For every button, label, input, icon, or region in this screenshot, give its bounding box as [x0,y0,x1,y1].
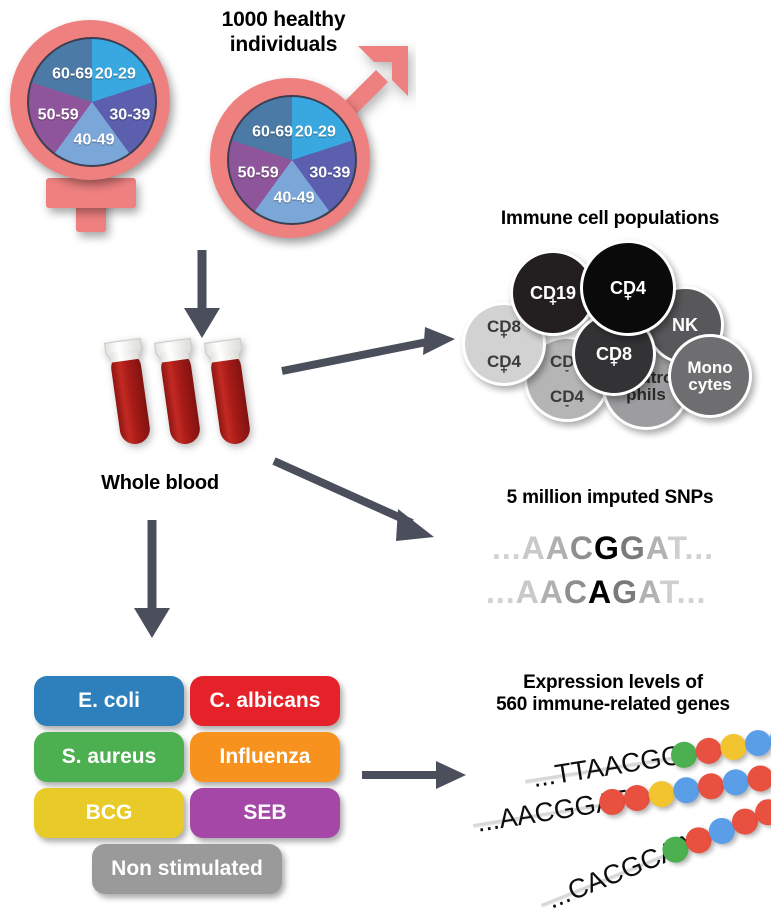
stimulus-label: C. albicans [210,689,321,713]
arrow-stimuli-to-expression [360,755,470,795]
stimulus-pill[interactable]: C. albicans [190,676,340,726]
pie-slice-label-40-49: 40-49 [274,189,315,207]
male-gender-icon: 20-2930-3940-4950-5960-69 [206,48,406,248]
stimulus-label: BCG [86,801,133,825]
stimulus-pill[interactable]: E. coli [34,676,184,726]
immune-cell-label: CD8+ [596,345,632,363]
pie-slice-label-30-39: 30-39 [309,165,350,183]
stimulus-pill[interactable]: BCG [34,788,184,838]
stimulus-pill[interactable]: Influenza [190,732,340,782]
arrow-blood-to-stimuli [130,520,174,640]
snp-sequence-block: ...AACGGAT......AACAGAT... [486,530,756,616]
pie-slice-label-50-59: 50-59 [38,107,79,125]
immune-cell-bubble: CD4+ [580,240,676,336]
section-title-expression: Expression levels of560 immune-related g… [455,672,771,717]
stimulus-label: SEB [243,801,286,825]
pie-slice-label-60-69: 60-69 [52,66,93,84]
arrow-blood-to-snps [272,455,452,550]
stimulus-pill[interactable]: Non stimulated [92,844,282,894]
expression-bead [719,732,749,762]
snp-sequence-row: ...AACAGAT... [486,574,706,611]
expression-bead [746,764,771,794]
expression-bead [671,775,701,805]
expression-bead [721,768,751,798]
pie-slice-label-60-69: 60-69 [252,124,293,142]
immune-cell-label: NK [672,316,698,334]
label-whole-blood: Whole blood [60,472,260,496]
pie-slice-label-20-29: 20-29 [295,124,336,142]
immune-cell-bubble-cluster: CD19+CD4+CD8+NKCD8+CD4+CD8-CD4-Neutrophi… [462,240,762,425]
expression-strand-block: ...TTAACGG...AACGGAT...CACGCAA [455,735,771,915]
pie-slice-label-40-49: 40-49 [74,131,115,149]
blood-collection-tubes-icon [96,335,256,465]
immune-cell-label: CD4+ [610,279,646,297]
expression-bead [647,779,677,809]
immune-cell-label: CD19+ [530,284,576,302]
section-title-snps: 5 million imputed SNPs [455,487,765,509]
section-title-immune-cells: Immune cell populations [450,208,770,230]
expression-bead [743,728,771,758]
immune-cell-bubble: Monocytes [668,334,752,418]
arrow-blood-to-immune-cells [280,325,465,385]
immune-cell-label: Monocytes [687,359,732,394]
expression-bead [694,736,724,766]
stimulus-label: Influenza [219,745,310,769]
stimulus-label: E. coli [78,689,140,713]
snp-sequence-row: ...AACGGAT... [492,530,714,567]
expression-bead [696,771,726,801]
stimulus-pill[interactable]: SEB [190,788,340,838]
pie-slice-label-20-29: 20-29 [95,66,136,84]
stimuli-grid: E. coliC. albicansS. aureusInfluenzaBCGS… [34,676,344,896]
pie-slice-label-30-39: 30-39 [109,107,150,125]
pie-slice-label-50-59: 50-59 [238,165,279,183]
stimulus-label: Non stimulated [111,857,263,881]
stimulus-label: S. aureus [62,745,157,769]
arrow-cohort-to-blood [180,250,224,340]
figure-canvas: 1000 healthyindividuals 20-2930-3940-495… [0,0,771,922]
immune-cell-label: CD8+CD4+ [487,318,521,370]
female-gender-icon: 20-2930-3940-4950-5960-69 [6,18,176,233]
stimulus-pill[interactable]: S. aureus [34,732,184,782]
